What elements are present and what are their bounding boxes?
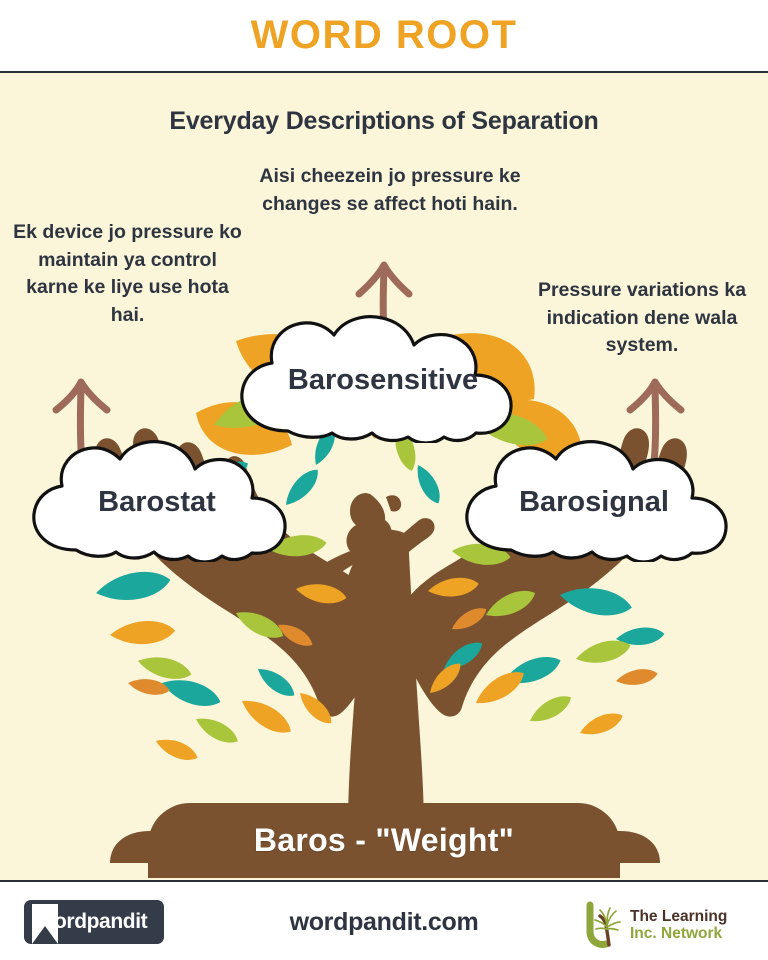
cloud-barostat[interactable]: Barostat (22, 438, 292, 562)
the-learning-inc-network-logo[interactable]: The Learning Inc. Network (582, 901, 754, 949)
barosignal-description: Pressure variations ka indication dene w… (518, 277, 766, 360)
cloud-shape (22, 438, 292, 562)
root-banner: Baros - "Weight" (148, 803, 620, 878)
cloud-barosensitive[interactable]: Barosensitive (228, 313, 538, 443)
barosensitive-description: Aisi cheezein jo pressure ke changes se … (255, 163, 525, 218)
cloud-barosignal[interactable]: Barosignal (455, 438, 733, 562)
barostat-description: Ek device jo pressure ko maintain ya con… (10, 219, 245, 330)
wordpandit-logo-text: ordpandit (54, 910, 147, 934)
footer-bar: ordpandit wordpandit.com The Learning (0, 880, 768, 960)
header-bar: WORD ROOT (0, 0, 768, 73)
cloud-shape (228, 313, 538, 443)
tree-in-u-icon (582, 901, 626, 949)
partner-line-1: The Learning (630, 908, 727, 925)
wordpandit-logo[interactable]: ordpandit (24, 900, 164, 944)
partner-logo-text: The Learning Inc. Network (630, 908, 727, 943)
page-title: WORD ROOT (251, 13, 518, 58)
root-word-label: Baros - "Weight" (254, 822, 514, 859)
partner-line-2: Inc. Network (630, 925, 727, 942)
cloud-shape (455, 438, 733, 562)
infographic-poster: WORD ROOT Everyday Descriptions of Separ… (0, 0, 768, 960)
